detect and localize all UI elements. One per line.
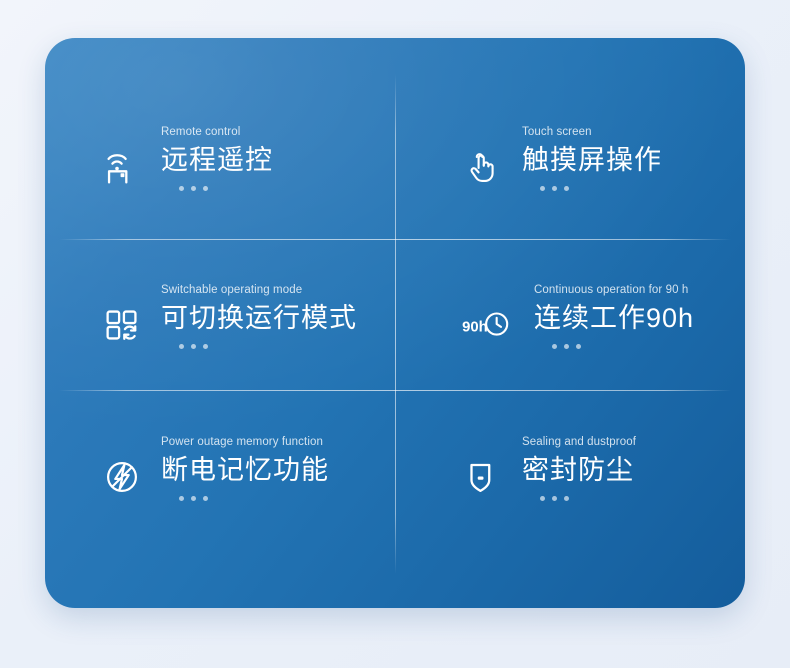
feature-english-label: Switchable operating mode — [161, 282, 357, 298]
remote-control-icon — [99, 144, 145, 190]
feature-english-label: Power outage memory function — [161, 434, 329, 450]
touch-hand-icon — [460, 144, 506, 190]
feature-dots — [552, 344, 694, 349]
clock-90h-icon: 90h — [460, 302, 518, 348]
feature-english-label: Touch screen — [522, 124, 662, 140]
page-root: Remote control 远程遥控 — [0, 0, 790, 668]
feature-dots — [179, 186, 273, 191]
feature-cell-continuous-90h[interactable]: 90h Continuous operation for 90 h 连续工作90… — [395, 239, 745, 390]
feature-title: 连续工作90h — [534, 298, 694, 338]
feature-dots — [179, 496, 329, 501]
feature-english-label: Continuous operation for 90 h — [534, 282, 694, 298]
feature-title: 断电记忆功能 — [161, 450, 329, 490]
shield-dustproof-icon — [460, 454, 506, 500]
feature-cell-power-outage-memory[interactable]: Power outage memory function 断电记忆功能 — [45, 390, 395, 608]
feature-panel: Remote control 远程遥控 — [45, 38, 745, 608]
power-outage-bolt-icon — [99, 454, 145, 500]
feature-dots — [179, 344, 357, 349]
feature-english-label: Remote control — [161, 124, 273, 140]
icon-90h-text: 90h — [462, 320, 488, 336]
switch-mode-grid-icon — [99, 302, 145, 348]
feature-dots — [540, 496, 636, 501]
feature-english-label: Sealing and dustproof — [522, 434, 636, 450]
feature-title: 远程遥控 — [161, 140, 273, 180]
feature-title: 密封防尘 — [522, 450, 636, 490]
feature-title: 触摸屏操作 — [522, 140, 662, 180]
feature-cell-switchable-mode[interactable]: Switchable operating mode 可切换运行模式 — [45, 239, 395, 390]
feature-cell-sealing-dustproof[interactable]: Sealing and dustproof 密封防尘 — [395, 390, 745, 608]
feature-grid: Remote control 远程遥控 — [45, 38, 745, 608]
feature-dots — [540, 186, 662, 191]
feature-cell-touch-screen[interactable]: Touch screen 触摸屏操作 — [395, 38, 745, 239]
feature-title: 可切换运行模式 — [161, 298, 357, 338]
feature-cell-remote-control[interactable]: Remote control 远程遥控 — [45, 38, 395, 239]
